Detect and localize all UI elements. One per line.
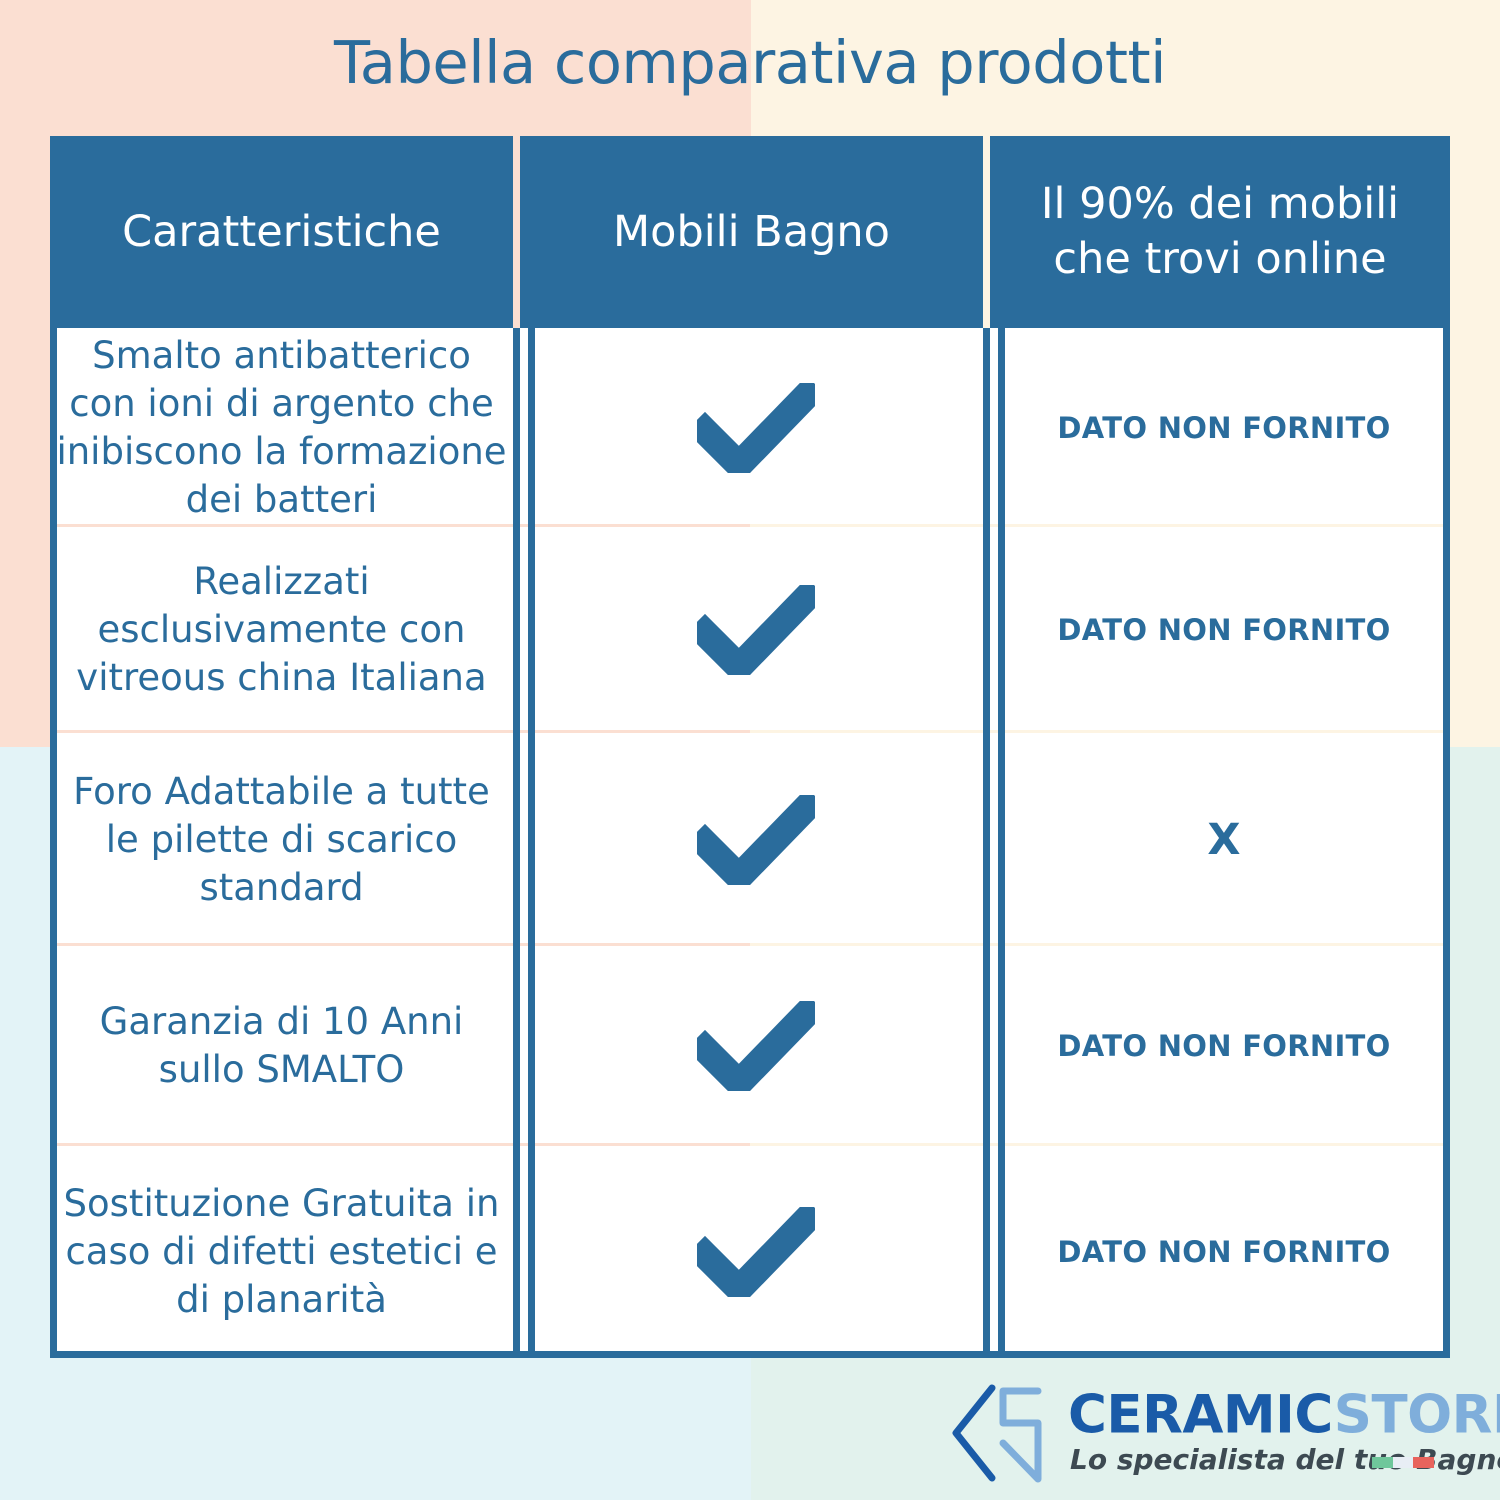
row-separator-left <box>50 943 750 946</box>
row-separator <box>50 524 1450 527</box>
checkmark-icon <box>697 585 815 675</box>
ceramicstore-chevron-mark-icon <box>946 1383 1058 1483</box>
feature-label: Garanzia di 10 Anni sullo SMALTO <box>54 998 509 1094</box>
checkmark-icon <box>697 795 815 885</box>
logo-word-secondary: STORE <box>1334 1385 1500 1446</box>
column-divider-2-left <box>983 328 990 1358</box>
table-border-right <box>1443 328 1450 1358</box>
table-border-left <box>50 328 57 1358</box>
table-header-cell-caratteristiche: Caratteristiche <box>50 136 513 328</box>
column-divider-2-right <box>998 328 1005 1358</box>
cell-feature: Foro Adattabile a tutte le pilette di sc… <box>50 733 513 946</box>
feature-label: Realizzati esclusivamente con vitreous c… <box>54 558 509 702</box>
row-separator-left <box>50 1143 750 1146</box>
page-title: Tabella comparativa prodotti <box>0 26 1500 100</box>
logo-word-primary: CERAMIC <box>1068 1385 1334 1446</box>
logo-wordmark: CERAMICSTORE® <box>1068 1379 1500 1445</box>
cell-online: DATO NON FORNITO <box>998 946 1450 1146</box>
flag-stripe-green <box>1372 1457 1393 1468</box>
table-row: Sostituzione Gratuita in caso di difetti… <box>50 1146 1450 1358</box>
cell-feature: Smalto antibatterico con ioni di argento… <box>50 328 513 527</box>
cell-online: DATO NON FORNITO <box>998 328 1450 527</box>
table-header-row: Caratteristiche Mobili Bagno Il 90% dei … <box>50 136 1450 328</box>
row-separator-left <box>50 524 750 527</box>
flag-stripe-red <box>1413 1457 1434 1468</box>
cell-mobili-bagno <box>528 946 983 1146</box>
table-row: Garanzia di 10 Anni sullo SMALTODATO NON… <box>50 946 1450 1146</box>
x-mark-icon: X <box>1207 816 1240 864</box>
row-separator <box>50 943 1450 946</box>
table-row: Realizzati esclusivamente con vitreous c… <box>50 527 1450 733</box>
feature-label: Smalto antibatterico con ioni di argento… <box>54 332 509 524</box>
feature-label: Sostituzione Gratuita in caso di difetti… <box>54 1180 509 1324</box>
row-separator-right <box>750 730 1450 733</box>
table-body: Sostituzione Gratuita in caso di difetti… <box>50 328 1450 1358</box>
row-separator-right <box>750 943 1450 946</box>
checkmark-icon <box>697 383 815 473</box>
flag-stripe-white <box>1393 1457 1413 1468</box>
feature-label: Foro Adattabile a tutte le pilette di sc… <box>54 768 509 912</box>
column-divider-1-left <box>513 328 520 1358</box>
table-header-cell-online: Il 90% dei mobili che trovi online <box>990 136 1450 328</box>
cell-mobili-bagno <box>528 733 983 946</box>
cell-mobili-bagno <box>528 328 983 527</box>
cell-mobili-bagno <box>528 527 983 733</box>
infographic-canvas: Tabella comparativa prodotti Caratterist… <box>0 0 1500 1500</box>
checkmark-icon <box>697 1001 815 1091</box>
cell-feature: Garanzia di 10 Anni sullo SMALTO <box>50 946 513 1146</box>
table-row: Foro Adattabile a tutte le pilette di sc… <box>50 733 1450 946</box>
brand-logo: CERAMICSTORE® Lo specialista del tuo Bag… <box>946 1381 1466 1493</box>
table-header-cell-mobili-bagno: Mobili Bagno <box>520 136 983 328</box>
status-note: DATO NON FORNITO <box>1057 410 1390 446</box>
column-divider-1-right <box>528 328 535 1358</box>
header-divider-2 <box>983 136 990 328</box>
row-separator-right <box>750 524 1450 527</box>
row-separator-right <box>750 1143 1450 1146</box>
cell-feature: Realizzati esclusivamente con vitreous c… <box>50 527 513 733</box>
cell-mobili-bagno <box>528 1146 983 1358</box>
table-border-bottom <box>50 1351 1450 1358</box>
italian-flag-bar-icon <box>1372 1457 1434 1468</box>
table-row: Smalto antibatterico con ioni di argento… <box>50 328 1450 527</box>
checkmark-icon <box>697 1207 815 1297</box>
status-note: DATO NON FORNITO <box>1057 612 1390 648</box>
status-note: DATO NON FORNITO <box>1057 1028 1390 1064</box>
cell-online: DATO NON FORNITO <box>998 1146 1450 1358</box>
header-divider-1 <box>513 136 520 328</box>
cell-online: DATO NON FORNITO <box>998 527 1450 733</box>
row-separator-left <box>50 730 750 733</box>
comparison-table: Caratteristiche Mobili Bagno Il 90% dei … <box>50 136 1450 1358</box>
row-separator <box>50 730 1450 733</box>
row-separator <box>50 1143 1450 1146</box>
status-note: DATO NON FORNITO <box>1057 1234 1390 1270</box>
cell-online: X <box>998 733 1450 946</box>
cell-feature: Sostituzione Gratuita in caso di difetti… <box>50 1146 513 1358</box>
logo-tagline: Lo specialista del tuo Bagno <box>1070 1443 1500 1477</box>
